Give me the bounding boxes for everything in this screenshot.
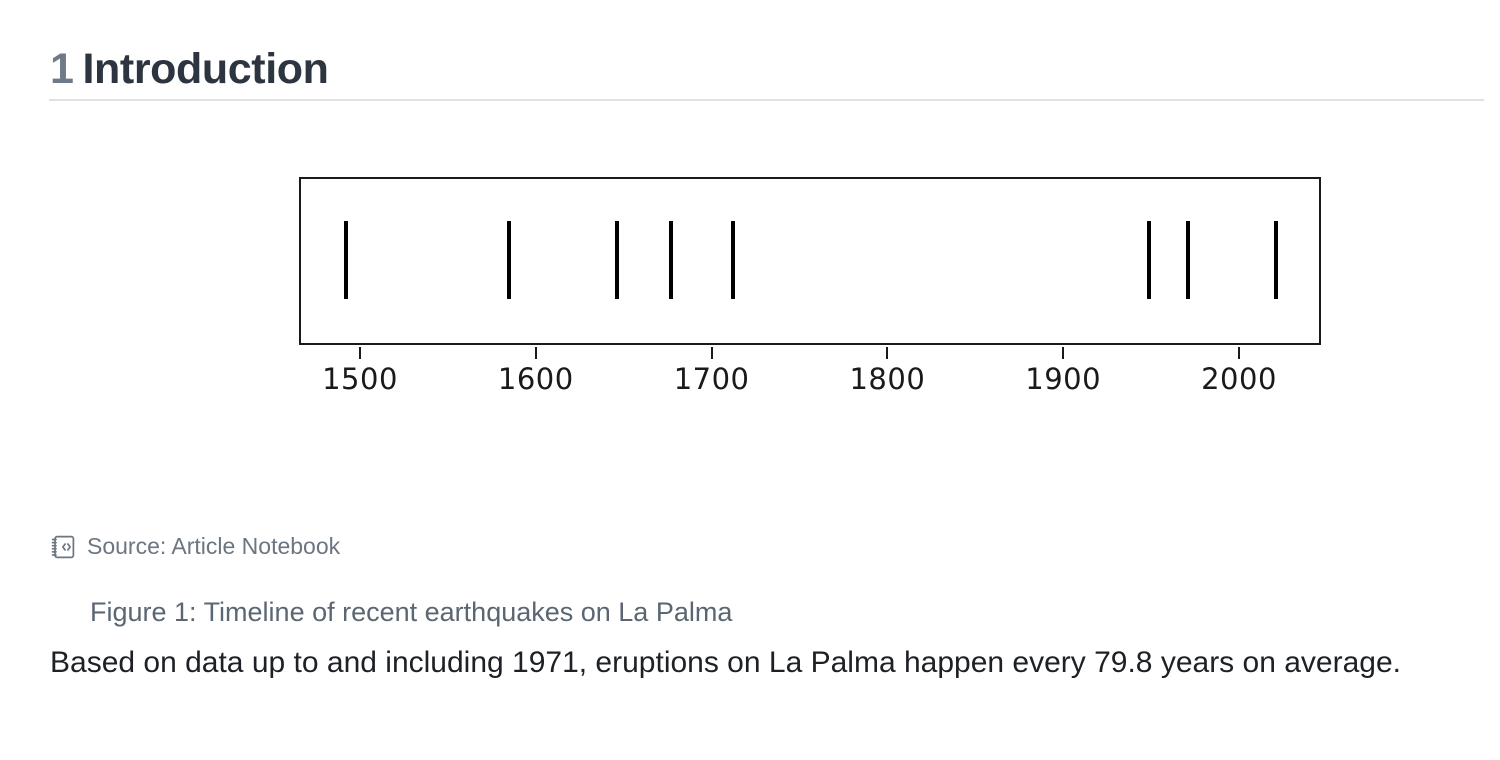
x-axis-tick [1238, 347, 1240, 359]
x-axis-tick [711, 347, 713, 359]
journal-code-icon [50, 534, 76, 560]
rug-mark [1147, 221, 1151, 299]
x-axis-tick [1062, 347, 1064, 359]
plot-frame [299, 177, 1321, 345]
article-page: 1Introduction 150016001700180019002000 F… [0, 0, 1500, 760]
x-axis-tick [886, 347, 888, 359]
figure-1: 150016001700180019002000 Figure 1: Timel… [40, 146, 1500, 411]
x-axis-label: 2000 [1201, 362, 1277, 396]
figure-source-label: Source: Article Notebook [87, 533, 340, 560]
x-axis-label: 1600 [498, 362, 574, 396]
rug-mark [1186, 221, 1190, 299]
rug-mark [669, 221, 673, 299]
rug-mark [344, 221, 348, 299]
x-axis-label: 1900 [1025, 362, 1101, 396]
x-axis-label: 1700 [674, 362, 750, 396]
x-axis-label: 1800 [849, 362, 925, 396]
section-title-text: Introduction [83, 45, 329, 93]
page-title: 1Introduction [50, 45, 329, 94]
section-number: 1 [50, 45, 74, 93]
rug-mark [1274, 221, 1278, 299]
figure-caption: Figure 1: Timeline of recent earthquakes… [90, 594, 732, 630]
rug-mark [507, 221, 511, 299]
figure-source[interactable]: Source: Article Notebook [50, 533, 340, 560]
x-axis-label: 1500 [322, 362, 398, 396]
body-paragraph: Based on data up to and including 1971, … [50, 635, 1440, 691]
x-axis-tick [535, 347, 537, 359]
rug-mark [615, 221, 619, 299]
rug-mark [731, 221, 735, 299]
timeline-plot: 150016001700180019002000 [90, 146, 1490, 411]
heading-divider [49, 99, 1484, 101]
x-axis-tick [359, 347, 361, 359]
